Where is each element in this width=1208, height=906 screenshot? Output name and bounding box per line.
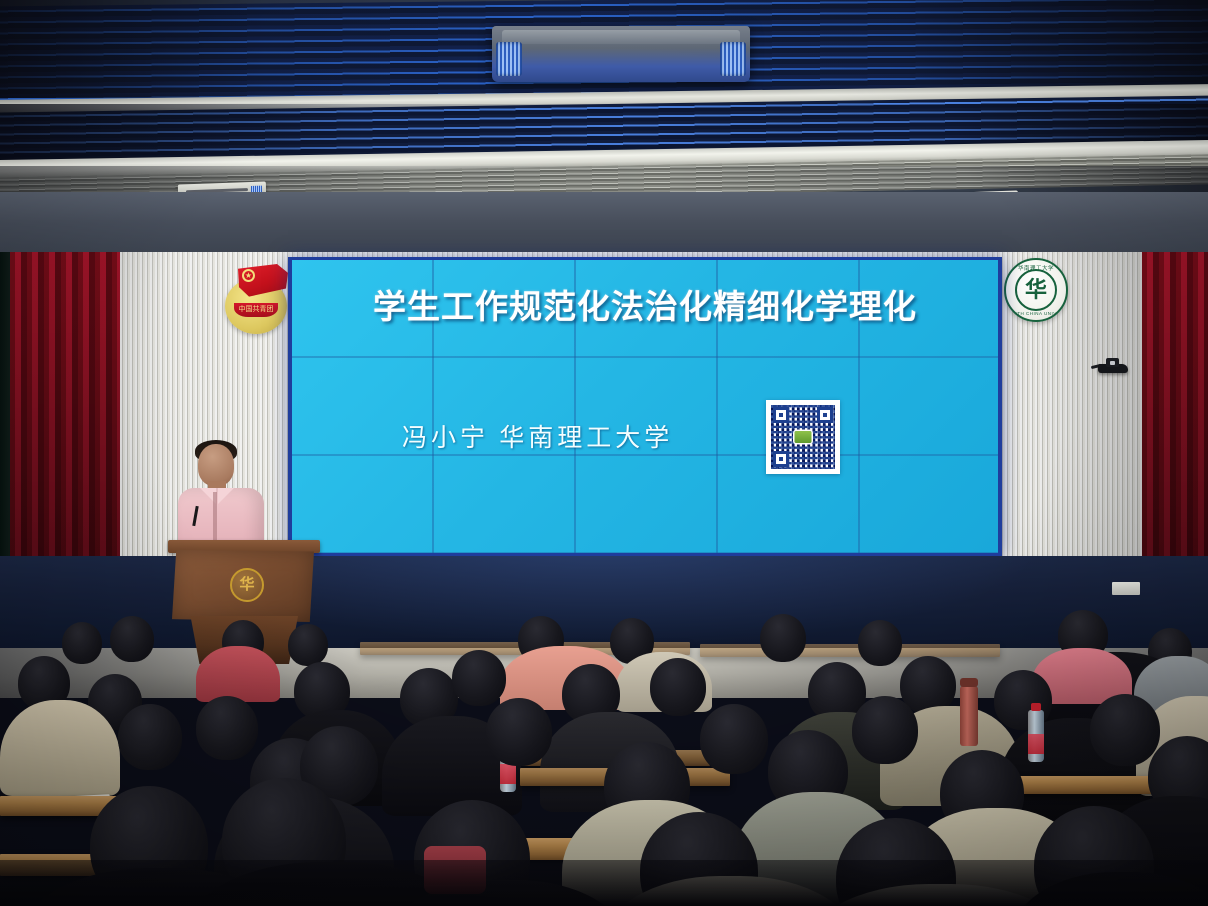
water-bottle[interactable] bbox=[1028, 710, 1044, 762]
audience-shoulders bbox=[0, 700, 120, 796]
ceiling bbox=[0, 0, 1208, 258]
speaker-head bbox=[198, 444, 234, 486]
qr-code[interactable] bbox=[766, 400, 840, 474]
audience-head bbox=[62, 622, 102, 664]
audience-head bbox=[196, 696, 258, 760]
ceiling-vent-left-icon bbox=[496, 42, 522, 76]
emblem-banner-text: 中国共青团 bbox=[234, 303, 278, 317]
ceiling-soffit bbox=[0, 192, 1208, 258]
scut-university-emblem: 华南理工大学 华 SOUTH CHINA UNIVERSITY OF TECHN… bbox=[1004, 258, 1068, 322]
ceiling-vent-right-icon bbox=[720, 42, 746, 76]
podium-seal-glyph: 华 bbox=[239, 578, 254, 593]
audience-head bbox=[1090, 694, 1160, 766]
table-row bbox=[700, 644, 1000, 657]
scut-emblem-glyph: 华 bbox=[1025, 279, 1047, 301]
presentation-screen[interactable]: 学生工作规范化法治化精细化学理化 冯小宁 华南理工大学 bbox=[292, 260, 998, 553]
audience-head bbox=[288, 624, 328, 666]
podium-university-seal: 华 bbox=[230, 568, 264, 602]
audience-head bbox=[486, 698, 552, 766]
emblem-star-icon bbox=[242, 269, 255, 282]
qr-finder-bottom-left-icon bbox=[773, 451, 789, 467]
qr-center-logo-icon bbox=[795, 431, 812, 443]
wall-camera-icon bbox=[1098, 358, 1128, 376]
qr-finder-top-right-icon bbox=[817, 407, 833, 423]
audience-head bbox=[852, 696, 918, 764]
audience-head bbox=[650, 658, 706, 716]
stage-curtain-left bbox=[10, 252, 120, 582]
audience-shoulders bbox=[196, 646, 280, 702]
audience-head bbox=[118, 704, 182, 770]
ceiling-av-unit bbox=[492, 26, 750, 82]
audience-head bbox=[452, 650, 506, 706]
audience-head bbox=[858, 620, 902, 666]
qr-code-modules bbox=[771, 405, 835, 469]
slide-subtitle: 冯小宁 华南理工大学 bbox=[402, 418, 673, 454]
audience-head bbox=[110, 616, 154, 662]
scut-emblem-ring: 华 bbox=[1015, 269, 1057, 311]
lecture-hall-photo: 中国共青团 华南理工大学 华 SOUTH CHINA UNIVERSITY OF… bbox=[0, 0, 1208, 906]
scut-emblem-arc-bottom: SOUTH CHINA UNIVERSITY OF TECHNOLOGY bbox=[1006, 311, 1066, 316]
audience-head bbox=[700, 704, 768, 774]
slide-title: 学生工作规范化法治化精细化学理化 bbox=[292, 280, 998, 328]
video-wall-bezel: 学生工作规范化法治化精细化学理化 冯小宁 华南理工大学 bbox=[288, 257, 1002, 558]
qr-finder-top-left-icon bbox=[773, 407, 789, 423]
foreground-shadow bbox=[0, 860, 1208, 906]
thermos[interactable] bbox=[960, 686, 978, 746]
audience-head bbox=[760, 614, 806, 662]
communist-youth-league-emblem: 中国共青团 bbox=[221, 262, 293, 334]
wall-switch-plate[interactable] bbox=[1112, 582, 1140, 595]
stage-curtain-right bbox=[1142, 252, 1208, 582]
